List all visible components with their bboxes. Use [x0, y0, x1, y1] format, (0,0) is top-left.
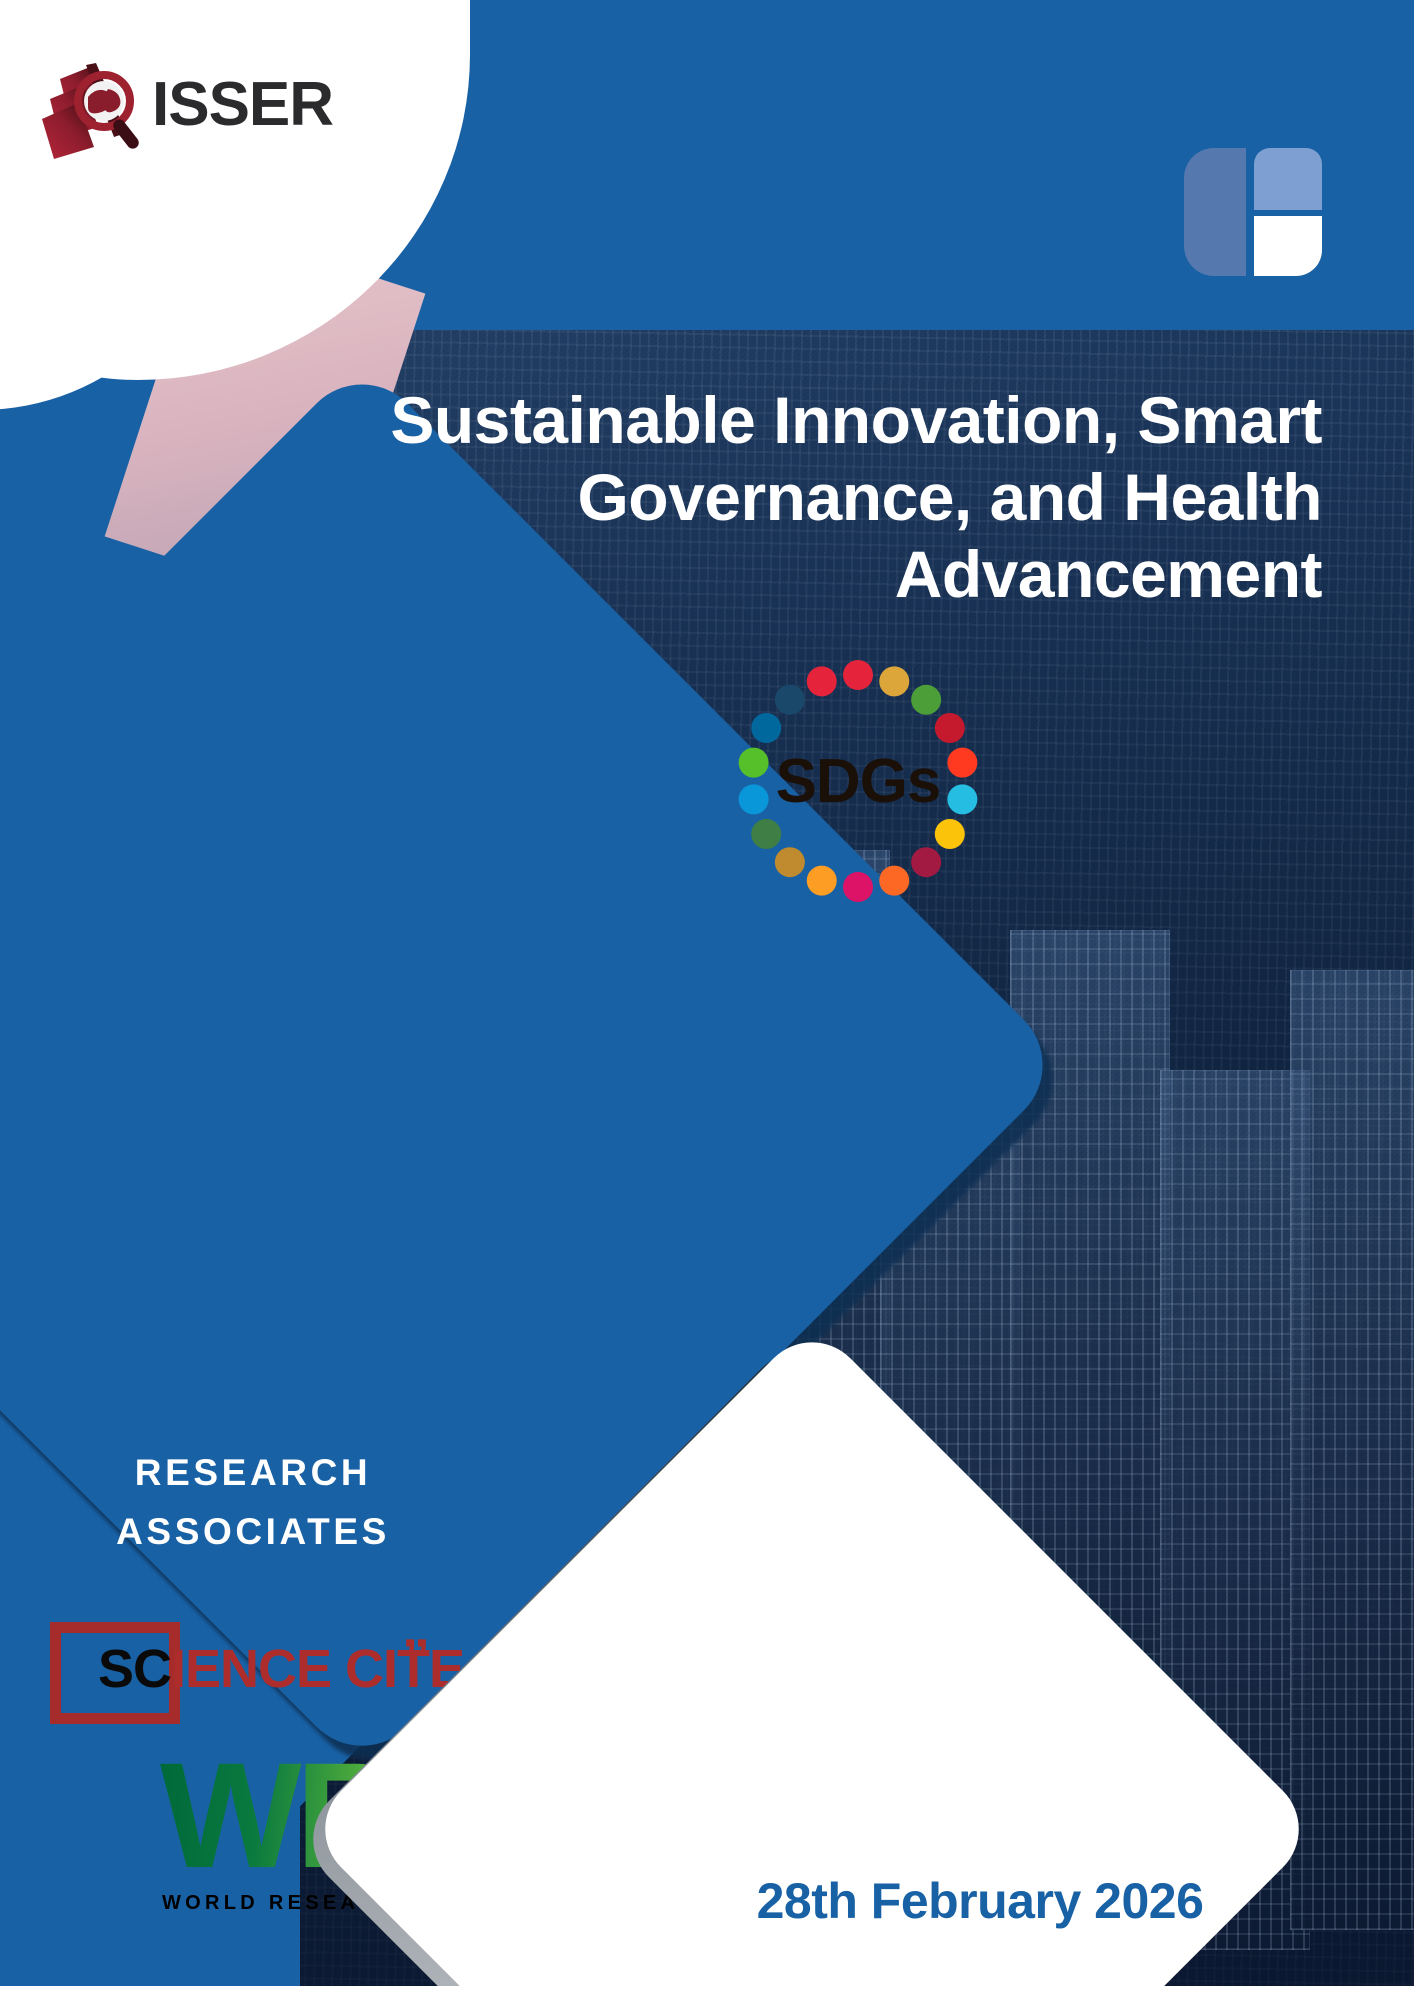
bottom-white-strip — [0, 1986, 1414, 2000]
isser-logo: ISSER — [34, 55, 364, 165]
science-cite-quote-icon: ” — [402, 1626, 430, 1691]
research-associates-heading: RESEARCH ASSOCIATES — [38, 1443, 468, 1561]
abstract-rounded-mark-icon — [1184, 148, 1322, 276]
conference-flyer: ISSER Sustainable Innovation, Smart Gove… — [0, 0, 1414, 2000]
title-line-3: Advancement — [895, 537, 1322, 611]
science-cite-mark-letters: SC — [98, 1639, 171, 1699]
sdgs-color-wheel-icon: SDGs — [722, 645, 994, 917]
science-cite-logo: SCIENCE CITE ” — [42, 1618, 442, 1728]
title-line-2: Governance, and Health — [577, 460, 1322, 534]
associates-line-2: ASSOCIATES — [116, 1511, 390, 1552]
sdgs-label: SDGs — [722, 645, 994, 917]
page-title: Sustainable Innovation, Smart Governance… — [258, 382, 1358, 614]
title-line-1: Sustainable Innovation, Smart — [390, 383, 1322, 457]
associates-line-1: RESEARCH — [135, 1452, 371, 1493]
isser-wordmark: ISSER — [152, 69, 333, 140]
book-magnifier-globe-icon — [34, 55, 152, 163]
event-date: 28th February 2026 — [700, 1872, 1260, 1930]
